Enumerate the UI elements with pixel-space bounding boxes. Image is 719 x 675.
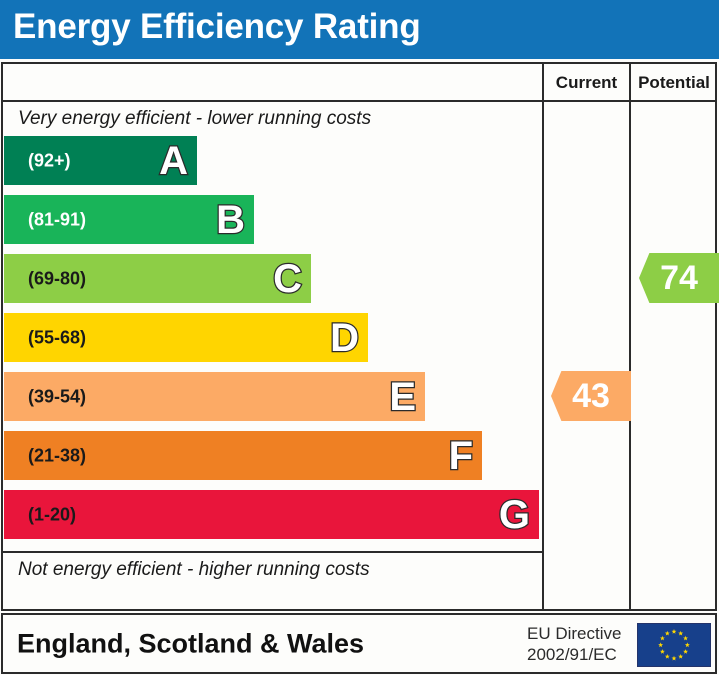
band-letter: A (159, 141, 188, 181)
band-d: (55-68)D (4, 313, 368, 362)
current-rating-marker: 43 (551, 371, 631, 421)
potential-rating-marker: 74 (639, 253, 719, 303)
caption-not-efficient: Not energy efficient - higher running co… (3, 551, 542, 587)
band-list: (92+)A(81-91)B(69-80)C(55-68)D(39-54)E(2… (3, 136, 542, 551)
chart-footer: England, Scotland & Wales EU Directive 2… (1, 613, 717, 674)
chart-title-bar: Energy Efficiency Rating (0, 0, 719, 59)
band-letter: B (216, 200, 245, 240)
column-header-row: Current Potential (3, 64, 715, 102)
band-range-label: (81-91) (28, 209, 86, 230)
band-range-label: (69-80) (28, 268, 86, 289)
rating-table: Current Potential Very energy efficient … (1, 62, 717, 611)
band-letter: E (389, 377, 416, 417)
band-range-label: (92+) (28, 150, 71, 171)
band-b: (81-91)B (4, 195, 254, 244)
band-range-label: (55-68) (28, 327, 86, 348)
band-range-label: (21-38) (28, 445, 86, 466)
column-header-potential: Potential (629, 64, 717, 102)
column-header-current: Current (542, 64, 629, 102)
directive-line-1: EU Directive (527, 622, 621, 643)
band-letter: G (499, 495, 530, 535)
band-letter: F (449, 436, 473, 476)
band-range-label: (1-20) (28, 504, 76, 525)
directive-line-2: 2002/91/EC (527, 644, 621, 665)
caption-very-efficient: Very energy efficient - lower running co… (3, 102, 542, 136)
column-divider-current (542, 102, 544, 609)
band-c: (69-80)C (4, 254, 311, 303)
band-letter: C (273, 259, 302, 299)
band-range-label: (39-54) (28, 386, 86, 407)
band-g: (1-20)G (4, 490, 539, 539)
energy-efficiency-rating-chart: Energy Efficiency Rating Current Potenti… (0, 0, 719, 675)
footer-region-label: England, Scotland & Wales (17, 628, 364, 659)
band-f: (21-38)F (4, 431, 482, 480)
eu-flag-icon (637, 623, 711, 667)
page-title: Energy Efficiency Rating (13, 7, 421, 47)
band-e: (39-54)E (4, 372, 425, 421)
band-a: (92+)A (4, 136, 197, 185)
column-divider-potential (629, 102, 631, 609)
band-letter: D (330, 318, 359, 358)
footer-directive: EU Directive 2002/91/EC (527, 622, 621, 665)
